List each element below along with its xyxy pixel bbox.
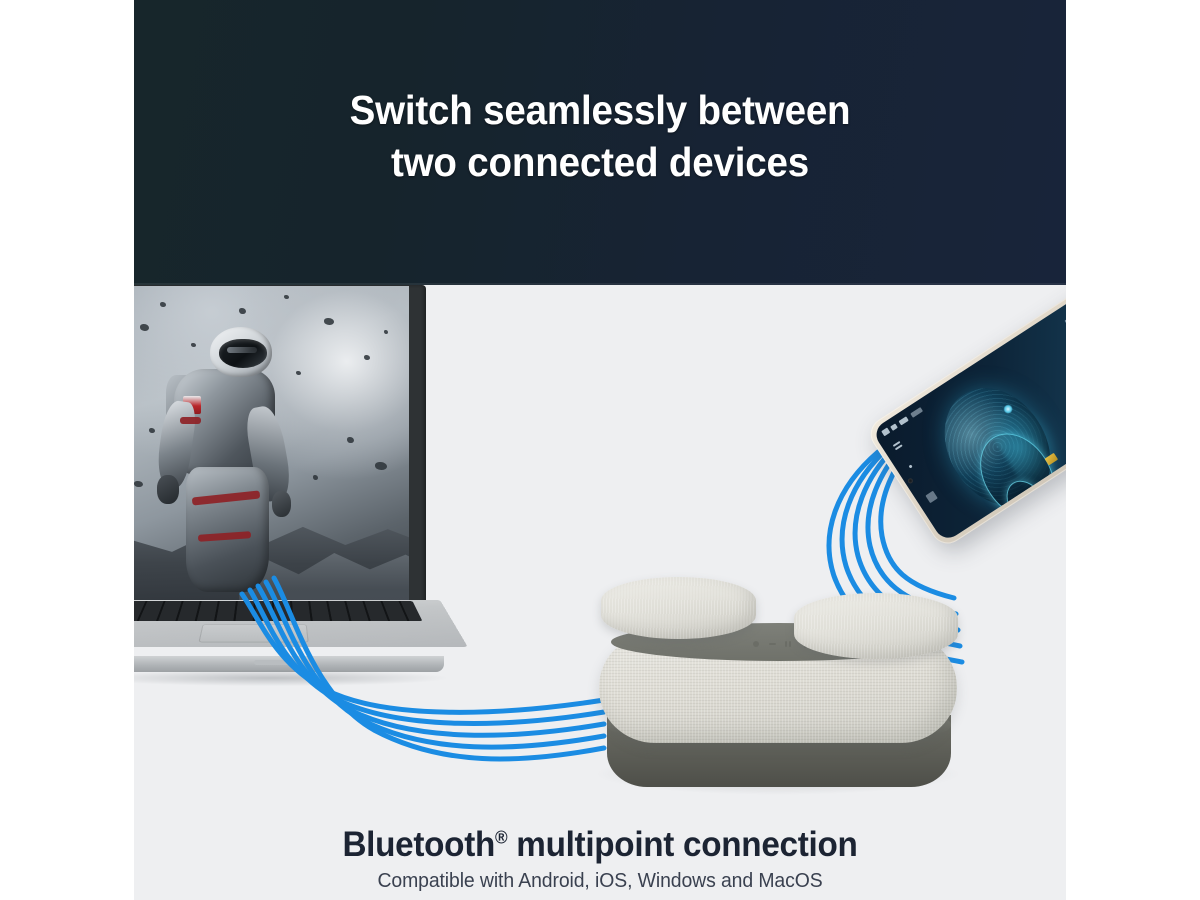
hero-title-line1: Switch seamlessly between — [350, 87, 851, 133]
debris-rock — [347, 437, 354, 443]
speaker-pod-right — [794, 593, 958, 659]
bluetooth-speaker — [589, 565, 969, 805]
registered-trademark-icon: ® — [495, 827, 507, 847]
astronaut-stripe — [180, 417, 201, 424]
feature-caption: Bluetooth® multipoint connection — [157, 825, 1042, 865]
volume-down-icon[interactable] — [769, 643, 776, 645]
content-panel: Switch seamlessly between two connected … — [134, 0, 1066, 900]
phone-screen[interactable]: Worlds without Pictures Sunday 2:14 / 4:… — [871, 278, 1066, 543]
signal-icon — [881, 427, 890, 436]
hero-title-line2: two connected devices — [162, 136, 1038, 188]
debris-rock — [313, 475, 318, 480]
astronaut-visor — [219, 339, 268, 368]
battery-icon — [899, 416, 909, 425]
play-pause-icon[interactable] — [785, 641, 787, 647]
more-options-icon[interactable] — [909, 464, 913, 468]
feature-subcaption: Compatible with Android, iOS, Windows an… — [148, 870, 1052, 893]
debris-rock — [375, 462, 387, 470]
power-icon[interactable] — [753, 641, 759, 647]
debris-rock — [160, 302, 166, 307]
laptop-base — [134, 600, 456, 696]
caption-rest: multipoint connection — [507, 825, 857, 864]
debris-rock — [284, 295, 289, 299]
laptop-device — [134, 285, 446, 705]
library-icon[interactable] — [925, 491, 937, 503]
astronaut-figure — [166, 327, 313, 592]
speaker-pod-left — [601, 577, 756, 639]
wifi-icon — [890, 423, 898, 430]
debris-rock — [239, 308, 246, 314]
debris-rock — [140, 324, 149, 331]
laptop-lid — [134, 285, 426, 607]
astronaut-scene — [134, 286, 409, 601]
laptop-lid-notch — [254, 660, 306, 665]
debris-rock — [134, 481, 143, 487]
page-title: Switch seamlessly between two connected … — [162, 84, 1038, 188]
debris-rock — [324, 318, 334, 325]
debris-rock — [384, 330, 388, 334]
debris-rock — [364, 355, 370, 360]
astronaut-right-glove — [272, 491, 291, 517]
debris-rock — [149, 428, 155, 433]
laptop-keyboard[interactable] — [134, 601, 422, 621]
play-pause-icon[interactable] — [789, 641, 791, 647]
astronaut-legs — [186, 467, 268, 591]
hero-banner: Switch seamlessly between two connected … — [134, 0, 1066, 285]
product-feature-image: Switch seamlessly between two connected … — [0, 0, 1200, 900]
laptop-trackpad[interactable] — [198, 624, 308, 642]
laptop-shadow — [134, 670, 446, 686]
astronaut-left-glove — [157, 475, 179, 504]
laptop-screen — [134, 286, 409, 601]
caption-brand: Bluetooth — [342, 825, 495, 864]
laptop-deck — [134, 600, 468, 647]
phone-frame: Worlds without Pictures Sunday 2:14 / 4:… — [864, 271, 1066, 550]
